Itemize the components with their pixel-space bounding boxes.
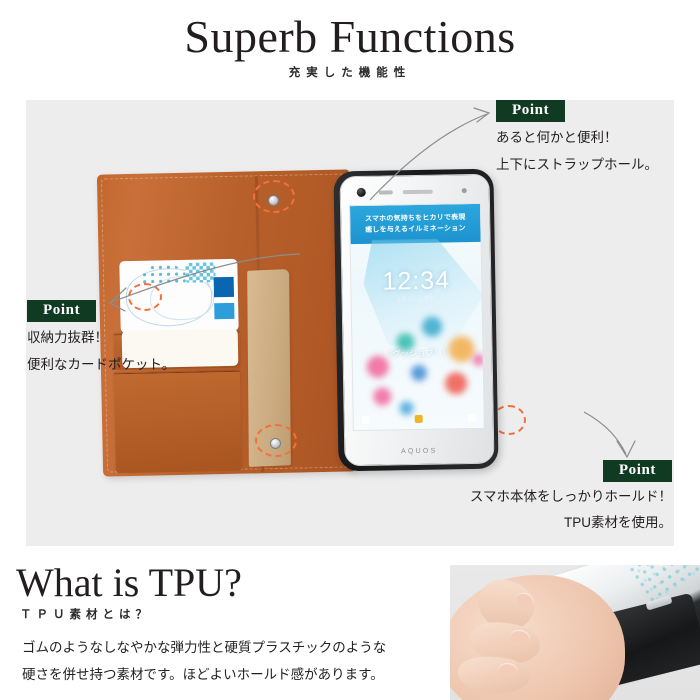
front-camera-icon xyxy=(357,188,366,197)
card-pattern-checker xyxy=(185,262,215,283)
lockscreen-clock: 12:34 xyxy=(351,266,481,297)
tpu-section-title: What is TPU? xyxy=(16,561,242,605)
callout-line-1: 収納力抜群！ xyxy=(27,327,175,349)
point-badge: Point xyxy=(603,460,672,482)
callout-line-1: あると何かと便利！ xyxy=(496,127,658,149)
phone-screen: スマホの気持ちをヒカリで表現 癒しを与えるイルミネーション 12:34 3月7日… xyxy=(349,203,485,431)
callout-card-pocket: Point 収納力抜群！ 便利なカードポケット。 xyxy=(27,300,175,376)
callout-line-2: 上下にストラップホール。 xyxy=(496,154,658,176)
point-badge: Point xyxy=(496,100,565,122)
speaker-grill-large xyxy=(403,190,433,195)
page-title: Superb Functions xyxy=(0,12,700,62)
camera-shortcut-icon xyxy=(468,414,476,422)
bokeh-dot xyxy=(411,365,427,381)
highlight-circle-strap-top xyxy=(253,180,295,213)
bokeh-dot xyxy=(399,401,413,415)
phone-shortcut-icon xyxy=(362,416,370,424)
point-badge: Point xyxy=(27,300,96,322)
phone-brand-label: AQUOS xyxy=(345,447,493,457)
card-block-light-blue xyxy=(214,303,234,319)
screen-caption: （グッジョブ！） xyxy=(352,347,482,360)
callout-strap-hole: Point あると何かと便利！ 上下にストラップホール。 xyxy=(496,100,658,176)
screen-banner: スマホの気持ちをヒカリで表現 癒しを与えるイルミネーション xyxy=(350,204,481,244)
card-block-dark-blue xyxy=(214,277,234,297)
page-subtitle: 充実した機能性 xyxy=(0,64,700,80)
screen-banner-line2: 癒しを与えるイルミネーション xyxy=(365,223,466,236)
tpu-section-body: ゴムのようなしなやかな弾力性と硬質プラスチックのような 硬さを併せ持つ素材です。… xyxy=(22,634,442,688)
bokeh-dot xyxy=(373,387,391,405)
lockscreen-shortcut-row xyxy=(354,414,484,426)
phone-body: スマホの気持ちをヒカリで表現 癒しを与えるイルミネーション 12:34 3月7日… xyxy=(339,174,494,467)
callout-line-2: TPU素材を使用。 xyxy=(452,512,672,534)
callout-line-1: スマホ本体をしっかりホールド！ xyxy=(452,486,672,508)
tpu-body-line-2: 硬さを併せ持つ素材です。ほどよいホールド感があります。 xyxy=(22,661,442,688)
hand-holding-case-photo xyxy=(450,565,700,700)
speaker-grill-small xyxy=(379,190,393,194)
callout-tpu-hold: Point スマホ本体をしっかりホールド！ TPU素材を使用。 xyxy=(452,460,672,534)
proximity-sensor-icon xyxy=(462,188,467,193)
phone-top-hardware xyxy=(341,185,489,200)
callout-line-2: 便利なカードポケット。 xyxy=(27,354,175,376)
lock-icon xyxy=(415,415,423,423)
smartphone: スマホの気持ちをヒカリで表現 癒しを与えるイルミネーション 12:34 3月7日… xyxy=(333,169,498,472)
tpu-body-line-1: ゴムのようなしなやかな弾力性と硬質プラスチックのような xyxy=(22,634,442,661)
tpu-section-subtitle: ＴＰＵ素材とは？ xyxy=(20,606,152,622)
bokeh-dot xyxy=(445,372,467,394)
page-header: Superb Functions 充実した機能性 xyxy=(0,0,700,100)
highlight-circle-strap-bottom xyxy=(255,424,297,457)
card-pocket-bottom xyxy=(114,371,242,474)
